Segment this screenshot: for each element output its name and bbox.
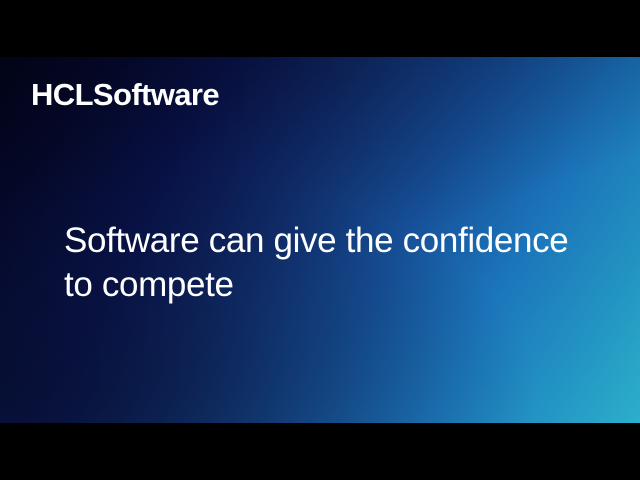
brand-logo: HCLSoftware <box>31 78 219 112</box>
letterbox-bar-bottom <box>0 423 640 480</box>
video-frame: HCLSoftware Software can give the confid… <box>0 0 640 480</box>
letterbox-bar-top <box>0 0 640 57</box>
brand-logo-hcl: HCL <box>31 77 93 112</box>
brand-logo-software: Software <box>93 77 219 112</box>
headline-line-1: Software can give the confidence <box>64 219 604 263</box>
headline: Software can give the confidence to comp… <box>64 219 604 307</box>
headline-line-2: to compete <box>64 263 604 307</box>
